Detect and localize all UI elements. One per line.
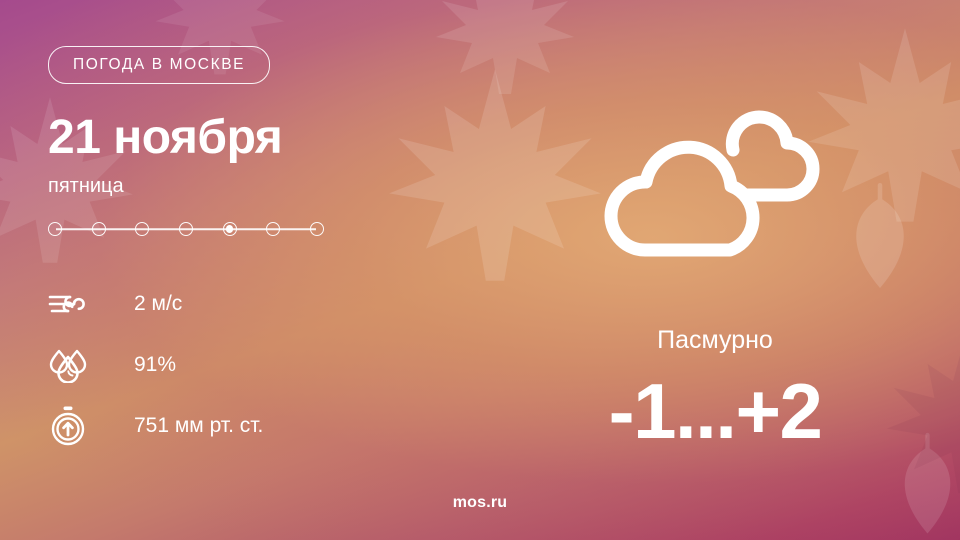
metric-wind-value: 2 м/с bbox=[100, 292, 182, 316]
temperature-range: -1...+2 bbox=[470, 372, 960, 450]
wind-icon bbox=[48, 288, 100, 320]
metric-wind: 2 м/с bbox=[48, 282, 468, 326]
metric-humidity-value: 91% bbox=[100, 353, 176, 377]
day-dot[interactable] bbox=[179, 222, 193, 236]
overcast-clouds-icon bbox=[585, 98, 845, 273]
day-dot[interactable] bbox=[310, 222, 324, 236]
date-day-month: 21 ноября bbox=[48, 114, 468, 162]
day-dot[interactable] bbox=[266, 222, 280, 236]
metric-humidity: 91% bbox=[48, 343, 468, 387]
info-panel: ПОГОДА В МОСКВЕ 21 ноября пятница bbox=[48, 46, 468, 465]
day-progress-dots[interactable] bbox=[48, 220, 324, 238]
site-name: mos.ru bbox=[453, 494, 508, 511]
day-dot[interactable] bbox=[48, 222, 62, 236]
forecast-panel: Пасмурно -1...+2 bbox=[470, 0, 960, 540]
metrics-list: 2 м/с 91% bbox=[48, 282, 468, 448]
site-footer: mos.ru bbox=[0, 494, 960, 512]
pressure-icon bbox=[48, 405, 100, 447]
city-badge: ПОГОДА В МОСКВЕ bbox=[48, 46, 270, 84]
day-dot[interactable] bbox=[135, 222, 149, 236]
city-badge-label: ПОГОДА В МОСКВЕ bbox=[73, 56, 245, 74]
day-dot[interactable] bbox=[92, 222, 106, 236]
date-weekday: пятница bbox=[48, 176, 468, 196]
weather-card: ПОГОДА В МОСКВЕ 21 ноября пятница bbox=[0, 0, 960, 540]
metric-pressure: 751 мм рт. ст. bbox=[48, 404, 468, 448]
humidity-icon bbox=[48, 347, 100, 383]
day-dot-active[interactable] bbox=[223, 222, 237, 236]
weather-condition: Пасмурно bbox=[470, 326, 960, 355]
metric-pressure-value: 751 мм рт. ст. bbox=[100, 414, 263, 438]
